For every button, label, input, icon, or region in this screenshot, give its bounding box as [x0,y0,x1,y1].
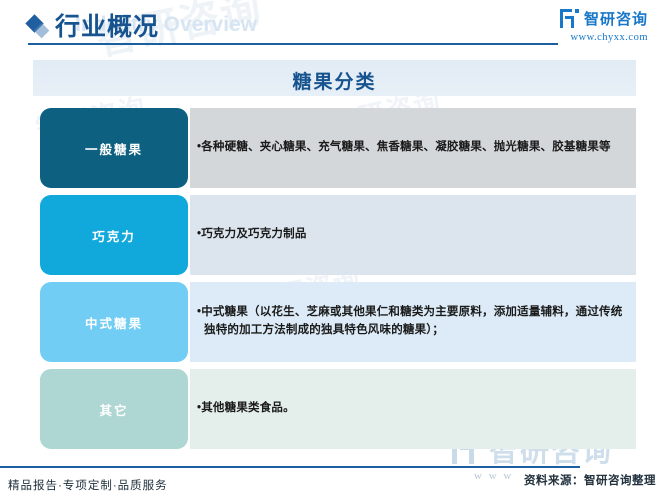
category-box-general-candy[interactable]: 一般糖果 [40,108,188,188]
table-row: 一般糖果 •各种硬糖、夹心糖果、充气糖果、焦香糖果、凝胶糖果、抛光糖果、胶基糖果… [0,108,662,188]
brand-block: 智研咨询 www.chyxx.com [560,8,648,43]
category-table: 一般糖果 •各种硬糖、夹心糖果、充气糖果、焦香糖果、凝胶糖果、抛光糖果、胶基糖果… [0,108,662,456]
category-label: 其它 [99,400,128,419]
category-label: 一般糖果 [85,139,143,158]
footer-source: 资料来源：智研咨询整理 [524,472,656,488]
page-title: 行业概况 [55,7,159,43]
category-label: 巧克力 [92,226,136,245]
description-text: •其他糖果类食品。 [190,400,305,418]
category-box-chinese-candy[interactable]: 中式糖果 [40,282,188,362]
header-divider [28,43,558,45]
table-row: 巧克力 •巧克力及巧克力制品 [0,195,662,275]
brand-url[interactable]: www.chyxx.com [560,32,648,43]
description-text: •各种硬糖、夹心糖果、充气糖果、焦香糖果、凝胶糖果、抛光糖果、胶基糖果等 [190,139,621,157]
footer-slogan: 精品报告·专项定制·品质服务 [8,477,168,493]
description-text: •巧克力及巧克力制品 [190,226,317,244]
table-row: 中式糖果 •中式糖果（以花生、芝麻或其他果仁和糖类为主要原料，添加适量辅料，通过… [0,282,662,362]
footer-divider [0,466,580,468]
section-title-band: 糖果分类 [33,60,636,96]
section-title: 糖果分类 [33,67,636,94]
description-box-chinese-candy: •中式糖果（以花生、芝麻或其他果仁和糖类为主要原料，添加适量辅料，通过传统独特的… [190,282,636,362]
brand-name: 智研咨询 [584,8,648,29]
category-label: 中式糖果 [85,313,143,332]
footer-www-text: w w w [474,470,513,482]
description-text: •中式糖果（以花生、芝麻或其他果仁和糖类为主要原料，添加适量辅料，通过传统独特的… [190,304,636,340]
description-box-chocolate: •巧克力及巧克力制品 [190,195,636,275]
category-box-other[interactable]: 其它 [40,369,188,449]
diamond-icon [25,14,43,32]
table-row: 其它 •其他糖果类食品。 [0,369,662,449]
description-box-general-candy: •各种硬糖、夹心糖果、充气糖果、焦香糖果、凝胶糖果、抛光糖果、胶基糖果等 [190,108,636,188]
description-box-other: •其他糖果类食品。 [190,369,636,449]
zhiyan-logo-icon [560,9,579,28]
category-box-chocolate[interactable]: 巧克力 [40,195,188,275]
